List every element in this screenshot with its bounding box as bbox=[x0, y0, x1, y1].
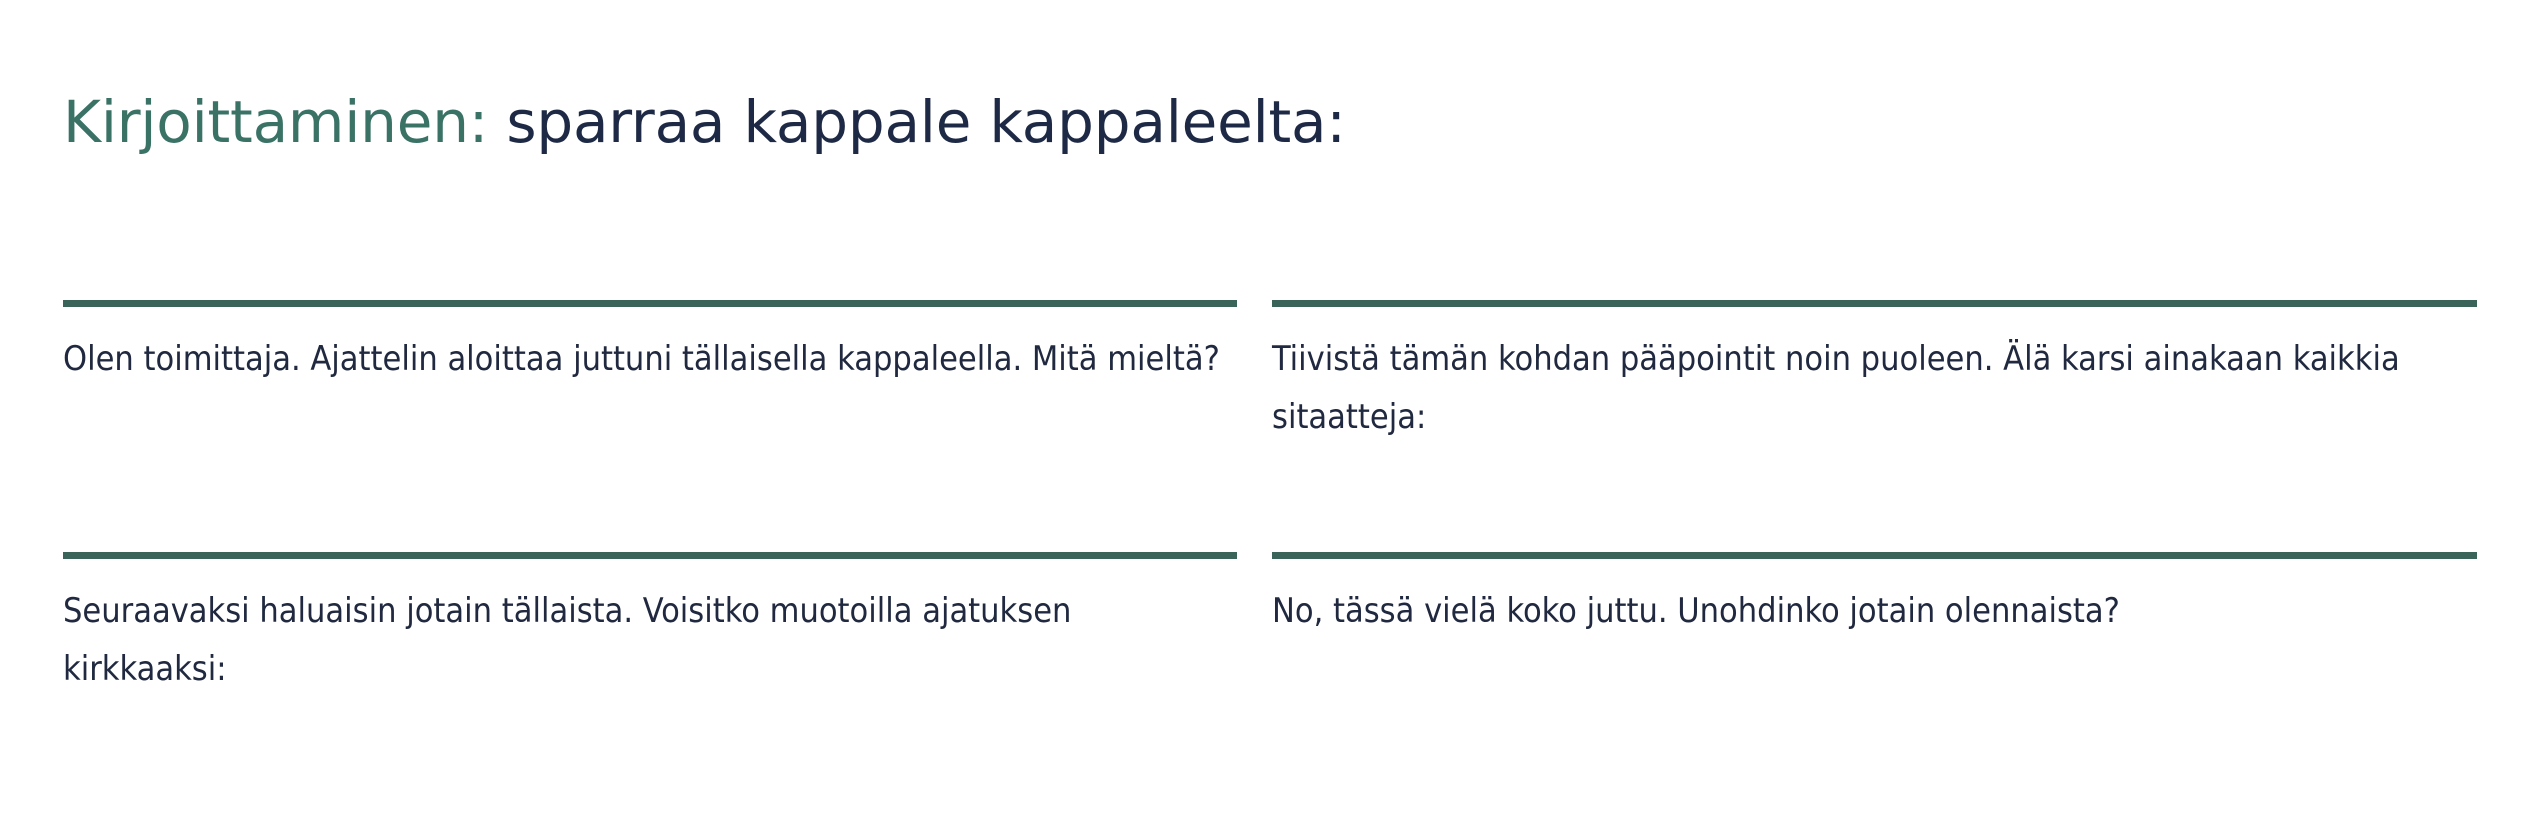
page-title-accent: Kirjoittaminen: bbox=[63, 88, 488, 156]
prompt-text-4: No, tässä vielä koko juttu. Unohdinko jo… bbox=[1272, 559, 2462, 641]
prompt-text-2: Tiivistä tämän kohdan pääpointit noin pu… bbox=[1272, 307, 2462, 447]
page-root: Kirjoittaminen: sparraa kappale kappalee… bbox=[0, 0, 2542, 836]
prompt-text-3: Seuraavaksi haluaisin jotain tällaista. … bbox=[63, 559, 1223, 699]
page-title: Kirjoittaminen: sparraa kappale kappalee… bbox=[63, 88, 1346, 156]
prompt-card-1: Olen toimittaja. Ajattelin aloittaa jutt… bbox=[63, 300, 1237, 552]
page-title-rest: sparraa kappale kappaleelta: bbox=[488, 88, 1346, 156]
prompt-card-3: Seuraavaksi haluaisin jotain tällaista. … bbox=[63, 552, 1237, 804]
prompt-text-1: Olen toimittaja. Ajattelin aloittaa jutt… bbox=[63, 307, 1223, 389]
prompt-grid: Olen toimittaja. Ajattelin aloittaa jutt… bbox=[63, 300, 2442, 804]
prompt-divider-1 bbox=[63, 300, 1237, 307]
prompt-divider-2 bbox=[1272, 300, 2477, 307]
prompt-card-4: No, tässä vielä koko juttu. Unohdinko jo… bbox=[1272, 552, 2477, 804]
prompt-divider-3 bbox=[63, 552, 1237, 559]
prompt-card-2: Tiivistä tämän kohdan pääpointit noin pu… bbox=[1272, 300, 2477, 552]
prompt-divider-4 bbox=[1272, 552, 2477, 559]
